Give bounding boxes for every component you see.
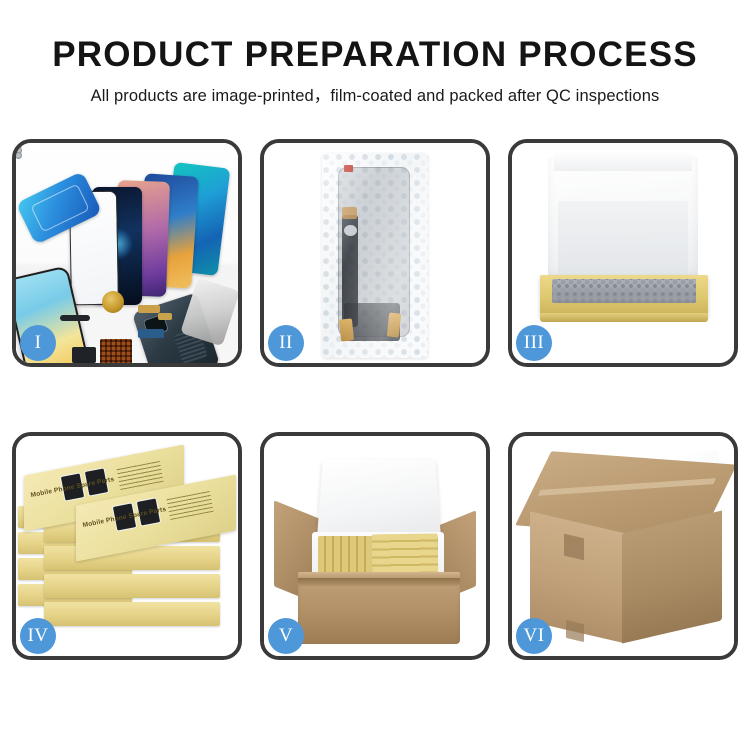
stacked-box-front-2	[44, 574, 220, 598]
speaker-part	[60, 315, 90, 321]
vibrator-coil-part	[102, 291, 124, 313]
stacked-box-front-1	[44, 602, 220, 626]
flex-cable-2	[138, 329, 164, 338]
carton-tab-lower	[566, 620, 584, 642]
step-badge-4: IV	[20, 618, 56, 654]
step-badge-2: II	[268, 325, 304, 361]
step-panel-6: VI	[508, 432, 738, 660]
step-panel-3: III	[508, 139, 738, 367]
red-qc-tag	[344, 165, 353, 172]
grey-foam-padding	[552, 279, 696, 303]
step-badge-3: III	[516, 325, 552, 361]
step-panel-5: V	[260, 432, 490, 660]
step-panel-2: II	[260, 139, 490, 367]
yellow-inner-box-tray	[540, 275, 708, 317]
carton-body	[298, 578, 460, 644]
step-badge-6: VI	[516, 618, 552, 654]
screen-connector-round	[344, 225, 357, 236]
carton-tab-upper	[564, 534, 584, 561]
foam-lid-open	[317, 459, 441, 539]
page-header: PRODUCT PREPARATION PROCESS All products…	[0, 0, 750, 107]
step-panel-4: Mobile Phone Spare Parts Mobile Phone Sp…	[12, 432, 242, 660]
bubble-wrap-bag-icon	[322, 153, 428, 358]
sealed-carton-right-face	[622, 510, 722, 643]
chip-grid-part	[100, 339, 132, 363]
screw-3	[16, 153, 21, 158]
flex-cable-3	[138, 305, 160, 313]
process-steps-grid: I II III	[12, 139, 738, 660]
flex-cable-4	[158, 313, 172, 320]
step-badge-1: I	[20, 325, 56, 361]
page-title: PRODUCT PREPARATION PROCESS	[0, 34, 750, 76]
box-front-lip	[540, 313, 708, 322]
step-panel-1: I	[12, 139, 242, 367]
repair-tool-icon	[180, 278, 238, 347]
page-subtitle: All products are image-printed，film-coat…	[0, 85, 750, 107]
gold-contact-2	[387, 312, 401, 337]
gold-contact-1	[339, 318, 354, 341]
screen-connector-gold	[342, 207, 357, 219]
step-badge-5: V	[268, 618, 304, 654]
flex-cable-1	[72, 347, 96, 363]
white-foam-lid	[548, 157, 698, 281]
